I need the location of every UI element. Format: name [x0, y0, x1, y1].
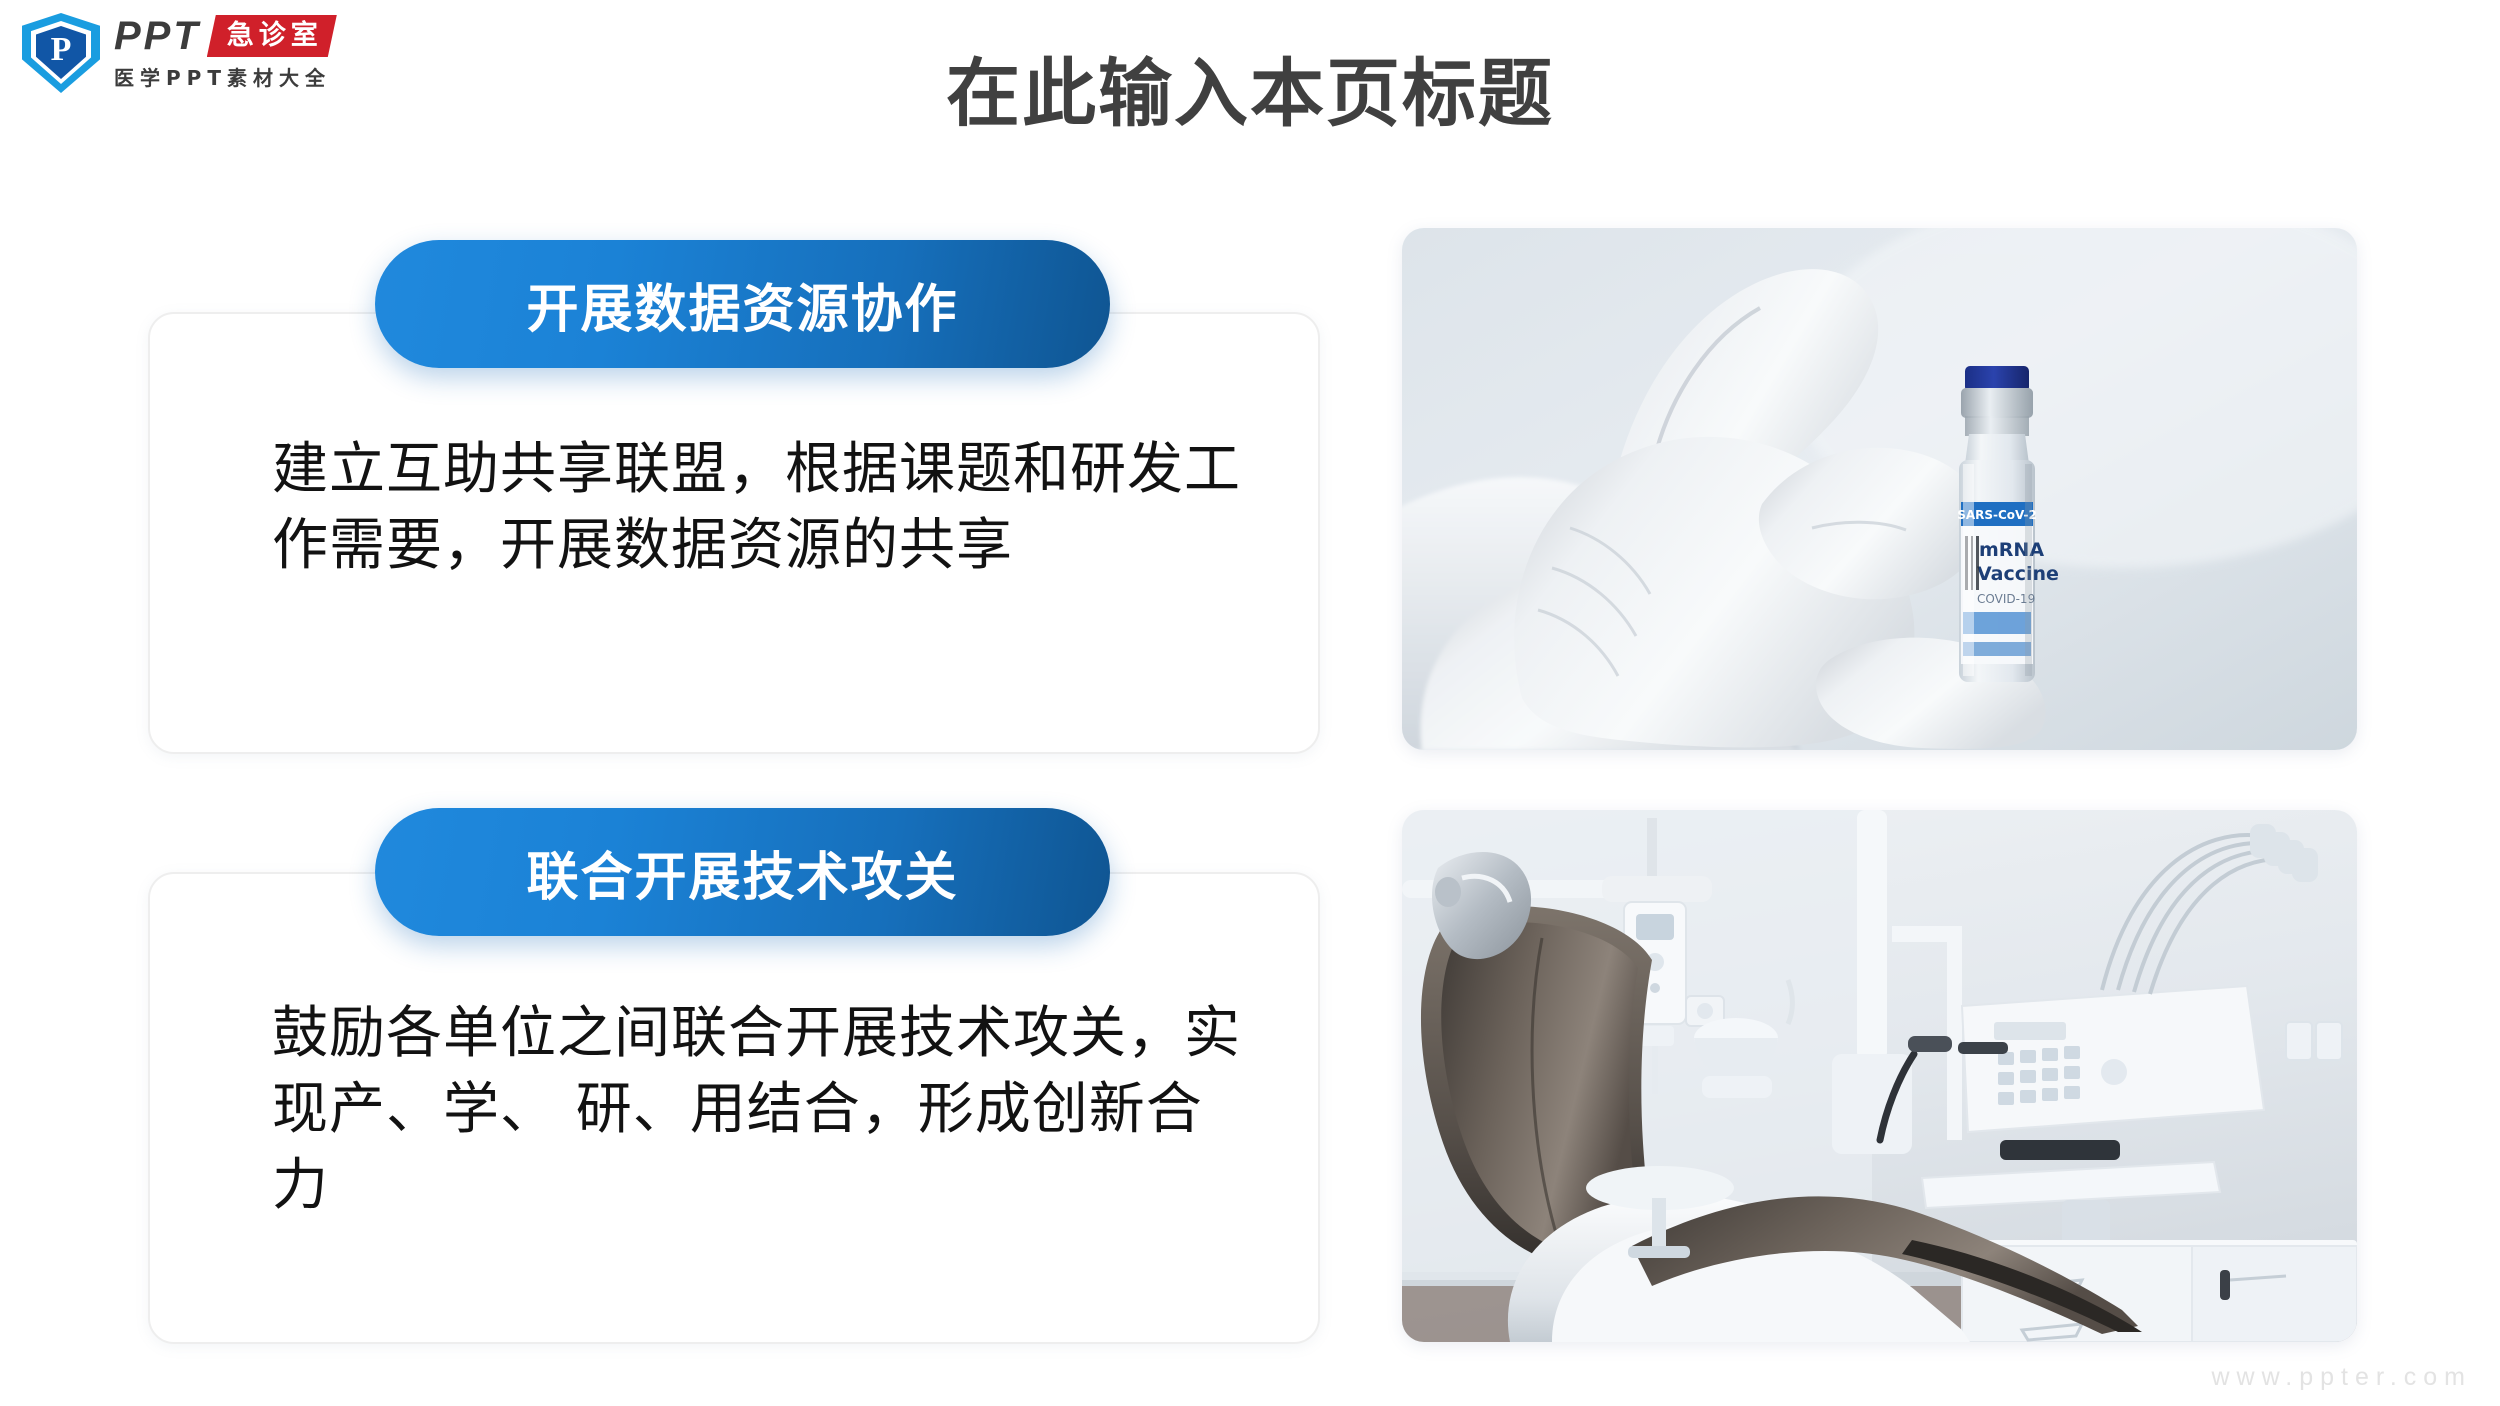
- card-2-body-text: 鼓励各单位之间联合开展技术攻关，实现产、学、 研、用结合，形成创新合力: [272, 996, 1248, 1224]
- photo-dental-chair: [1402, 810, 2357, 1342]
- slide-canvas: P PPT 急诊室 医学PPT素材大全 在此输入本页标题 建立互助共享联盟，根据…: [0, 0, 2500, 1406]
- photo-vaccine-vial: SARS-CoV-2 mRNA Vaccine COVID-19: [1402, 228, 2357, 750]
- svg-text:Vaccine: Vaccine: [1977, 563, 2059, 585]
- content-card-1: 建立互助共享联盟，根据课题和研发工作需要，开展数据资源的共享: [148, 312, 1320, 754]
- svg-text:mRNA: mRNA: [1979, 539, 2044, 561]
- content-card-2: 鼓励各单位之间联合开展技术攻关，实现产、学、 研、用结合，形成创新合力: [148, 872, 1320, 1344]
- section-label-2[interactable]: 联合开展技术攻关: [375, 808, 1110, 936]
- site-watermark: www.ppter.com: [2211, 1363, 2472, 1392]
- page-title: 在此输入本页标题: [0, 34, 2500, 141]
- card-1-body-text: 建立互助共享联盟，根据课题和研发工作需要，开展数据资源的共享: [272, 432, 1248, 584]
- section-label-1[interactable]: 开展数据资源协作: [375, 240, 1110, 368]
